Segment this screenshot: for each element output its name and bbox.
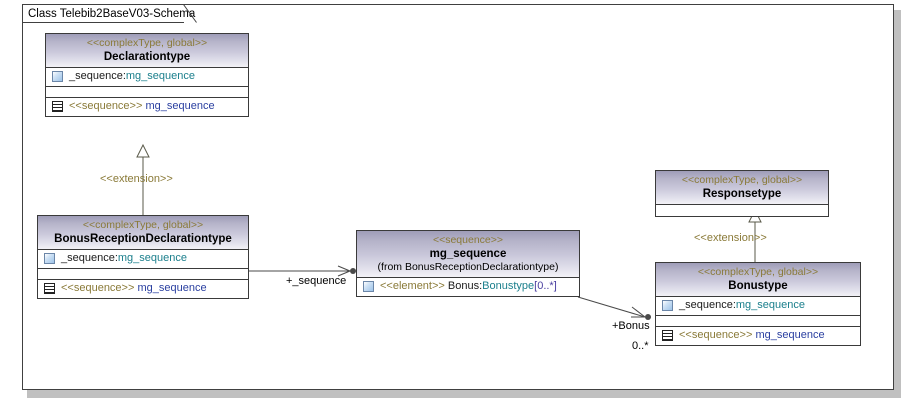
class-header: <<complexType, global>> Declarationtype — [46, 34, 248, 68]
attribute-type: mg_sequence — [736, 299, 805, 311]
attribute-icon — [44, 253, 55, 264]
class-header: <<complexType, global>> Bonustype — [656, 263, 860, 297]
class-bonustype[interactable]: <<complexType, global>> Bonustype _seque… — [655, 262, 861, 346]
operation-name: mg_sequence — [137, 282, 206, 294]
frame-tab-slant — [183, 4, 197, 23]
operation-row[interactable]: <<sequence>> mg_sequence — [46, 98, 248, 116]
frame-tab: Class Telebib2BaseV03-Schema — [22, 4, 199, 22]
class-stereotype: <<complexType, global>> — [658, 174, 826, 187]
class-name: Declarationtype — [48, 50, 246, 64]
sequence-icon — [44, 283, 55, 294]
operation-row[interactable]: <<sequence>> mg_sequence — [656, 327, 860, 345]
class-stereotype: <<complexType, global>> — [48, 37, 246, 50]
association-multiplicity-bonus: 0..* — [632, 340, 649, 352]
attribute-icon — [363, 281, 374, 292]
class-name: BonusReceptionDeclarationtype — [40, 232, 246, 246]
operation-name: mg_sequence — [755, 329, 824, 341]
element-multiplicity: [0..*] — [534, 280, 557, 292]
attribute-name: _sequence: — [679, 299, 736, 311]
attribute-type: mg_sequence — [126, 70, 195, 82]
operation-stereotype: <<sequence>> — [61, 282, 134, 294]
element-stereotype: <<element>> — [380, 280, 445, 292]
attribute-type: mg_sequence — [118, 252, 187, 264]
empty-compartment — [46, 87, 248, 98]
operation-stereotype: <<sequence>> — [69, 100, 142, 112]
frame-tab-label: Class Telebib2BaseV03-Schema — [28, 8, 195, 20]
operation-stereotype: <<sequence>> — [679, 329, 752, 341]
class-header: <<complexType, global>> BonusReceptionDe… — [38, 216, 248, 250]
class-namespace: (from BonusReceptionDeclarationtype) — [359, 261, 577, 274]
element-type: Bonustype — [482, 280, 534, 292]
association-role-sequence: +_sequence — [286, 275, 346, 287]
class-header: <<complexType, global>> Responsetype — [656, 171, 828, 205]
sequence-icon — [662, 330, 673, 341]
attribute-name: _sequence: — [69, 70, 126, 82]
class-name: Responsetype — [658, 187, 826, 201]
operation-row[interactable]: <<sequence>> mg_sequence — [38, 280, 248, 298]
class-declarationtype[interactable]: <<complexType, global>> Declarationtype … — [45, 33, 249, 117]
class-mg-sequence[interactable]: <<sequence>> mg_sequence (from BonusRece… — [356, 230, 580, 297]
empty-compartment — [38, 269, 248, 280]
operation-name: mg_sequence — [145, 100, 214, 112]
extension-label-right: <<extension>> — [694, 232, 767, 244]
class-header: <<sequence>> mg_sequence (from BonusRece… — [357, 231, 579, 278]
empty-compartment — [656, 205, 828, 216]
diagram-canvas: Class Telebib2BaseV03-Schema <<extension… — [0, 0, 901, 405]
attribute-row[interactable]: _sequence:mg_sequence — [46, 68, 248, 87]
attribute-name: _sequence: — [61, 252, 118, 264]
class-stereotype: <<complexType, global>> — [658, 266, 858, 279]
extension-label-left: <<extension>> — [100, 173, 173, 185]
class-stereotype: <<complexType, global>> — [40, 219, 246, 232]
attribute-icon — [52, 71, 63, 82]
class-responsetype[interactable]: <<complexType, global>> Responsetype — [655, 170, 829, 217]
element-name: Bonus: — [448, 280, 482, 292]
frame-tab-underline — [22, 22, 184, 23]
element-row[interactable]: <<element>> Bonus:Bonustype[0..*] — [357, 278, 579, 296]
empty-compartment — [656, 316, 860, 327]
class-name: mg_sequence — [359, 247, 577, 261]
attribute-row[interactable]: _sequence:mg_sequence — [38, 250, 248, 269]
class-stereotype: <<sequence>> — [359, 234, 577, 247]
class-bonusreceptiondeclarationtype[interactable]: <<complexType, global>> BonusReceptionDe… — [37, 215, 249, 299]
association-role-bonus: +Bonus — [612, 320, 650, 332]
sequence-icon — [52, 101, 63, 112]
class-name: Bonustype — [658, 279, 858, 293]
attribute-icon — [662, 300, 673, 311]
attribute-row[interactable]: _sequence:mg_sequence — [656, 297, 860, 316]
